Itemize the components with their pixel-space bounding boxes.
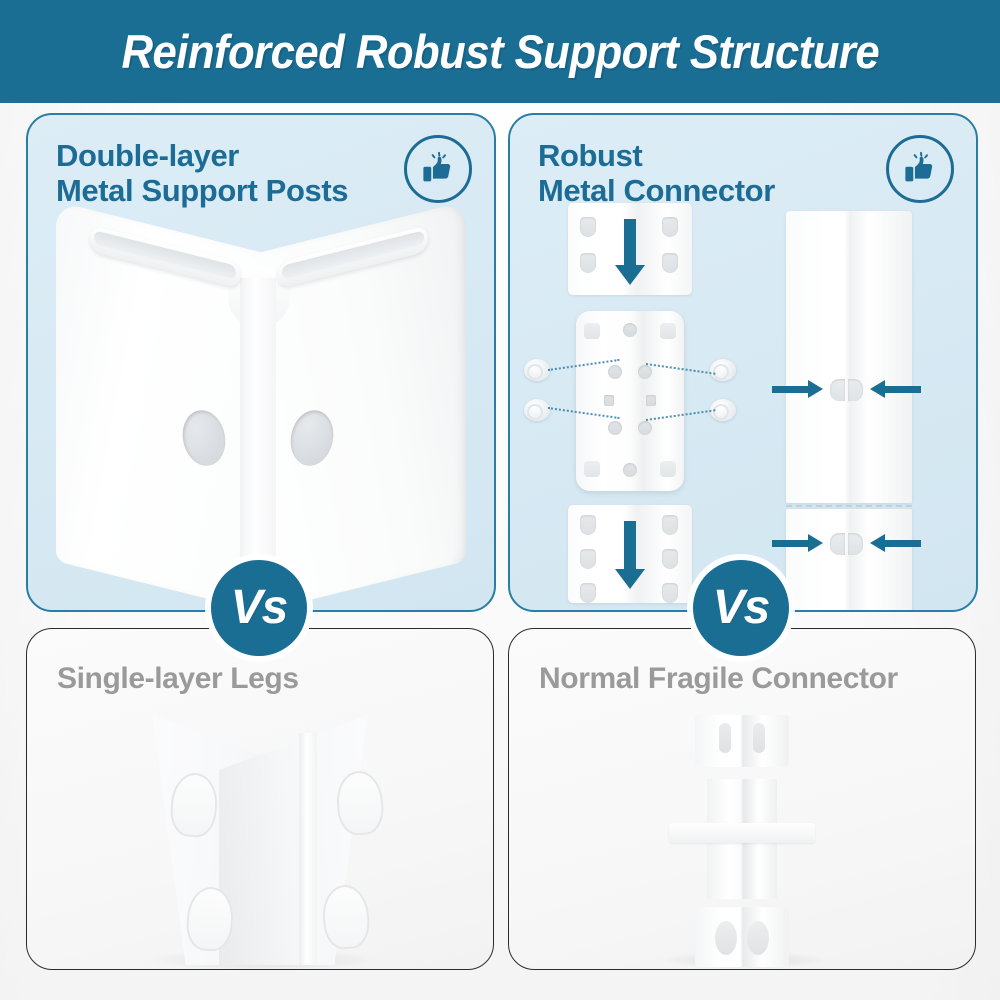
assembled-post-illustration (758, 203, 968, 603)
post-seam (786, 505, 912, 507)
single-layer-leg-illustration (27, 715, 493, 970)
assembled-post-upper (786, 211, 912, 503)
tighten-arrow-upper-left (772, 384, 823, 394)
screw-hole-upper-left (608, 365, 622, 379)
panel-title-single-layer: Single-layer Legs (57, 662, 299, 696)
joint-hole-upper-right (848, 379, 863, 401)
page-title: Reinforced Robust Support Structure (121, 24, 879, 79)
screw-right-upper (710, 359, 736, 381)
panel-title-double-layer: Double-layer Metal Support Posts (56, 139, 348, 208)
panel-fragile-connector: Normal Fragile Connector (508, 628, 976, 970)
screw-left-lower (524, 399, 550, 421)
post-spine (240, 278, 276, 590)
fragile-post-bottom (695, 907, 789, 967)
vs-badge-left: Vs (211, 560, 307, 656)
thumbs-up-icon (902, 151, 938, 187)
joint-hole-lower-right (848, 533, 863, 555)
thumbs-up-icon (420, 151, 456, 187)
panel-metal-connector: Robust Metal Connector (508, 113, 978, 612)
joint-hole-upper-left (830, 379, 845, 401)
plastic-connector-horizontal (669, 823, 815, 843)
leg-keyhole-upper-right (335, 769, 385, 836)
screw-left-upper (524, 359, 550, 381)
screw-hole-lower-right (638, 421, 652, 435)
tighten-arrow-lower-left (772, 538, 823, 548)
vs-badge-label: Vs (231, 584, 288, 632)
fragile-connector-illustration (509, 709, 975, 970)
joint-hole-lower-left (830, 533, 845, 555)
thumbs-up-badge-left (404, 135, 472, 203)
panel-single-layer-legs: Single-layer Legs (26, 628, 494, 970)
assembled-post-lower (786, 509, 912, 612)
panel-title-fragile-connector: Normal Fragile Connector (539, 662, 898, 696)
double-layer-post-illustration (28, 170, 494, 610)
fragile-post-top (695, 715, 789, 767)
vs-badge-label: Vs (713, 584, 770, 632)
connector-plate (576, 311, 684, 491)
tighten-arrow-lower-right (870, 538, 921, 548)
tighten-arrow-upper-right (870, 384, 921, 394)
screw-hole-upper-right (638, 365, 652, 379)
leg-keyhole-lower-right (321, 883, 371, 950)
panel-double-layer-posts: Double-layer Metal Support Posts (26, 113, 496, 612)
thumbs-up-badge-right (886, 135, 954, 203)
leg-corner-fold (299, 733, 317, 965)
screw-hole-lower-left (608, 421, 622, 435)
header-banner: Reinforced Robust Support Structure (0, 0, 1000, 103)
metal-connector-illustration (522, 203, 752, 603)
vs-badge-right: Vs (693, 560, 789, 656)
infographic-page: Reinforced Robust Support Structure Doub… (0, 0, 1000, 1000)
panel-title-metal-connector: Robust Metal Connector (538, 139, 775, 208)
